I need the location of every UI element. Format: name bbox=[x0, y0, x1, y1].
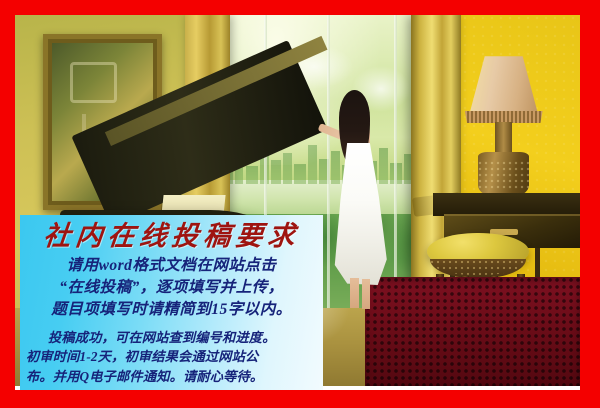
woman-leg bbox=[350, 278, 358, 308]
red-carpet bbox=[365, 277, 580, 386]
lamp-base-pattern bbox=[478, 161, 529, 191]
artwork-shape bbox=[70, 62, 116, 103]
lamp-neck bbox=[495, 122, 512, 156]
caption-title: 社内在线投稿要求 bbox=[20, 221, 323, 252]
caption-line: 请用word格式文档在网站点击 bbox=[20, 255, 323, 277]
caption-paragraph-2: 投稿成功，可在网站查到编号和进度。 初审时间1-2天，初审结果会通过网站公 布。… bbox=[20, 328, 323, 386]
caption-line: “在线投稿”，逐项填写并上传， bbox=[20, 277, 323, 299]
woman-leg bbox=[362, 279, 370, 309]
caption-paragraph-1: 请用word格式文档在网站点击 “在线投稿”，逐项填写并上传， 题目项填写时请精… bbox=[20, 255, 323, 321]
caption-panel: 社内在线投稿要求 请用word格式文档在网站点击 “在线投稿”，逐项填写并上传，… bbox=[20, 215, 323, 390]
caption-line: 题目项填写时请精简到15字以内。 bbox=[20, 299, 323, 321]
poster-frame: 社内在线投稿要求 请用word格式文档在网站点击 “在线投稿”，逐项填写并上传，… bbox=[0, 0, 600, 408]
scene-photo: 社内在线投稿要求 请用word格式文档在网站点击 “在线投稿”，逐项填写并上传，… bbox=[15, 15, 580, 390]
caption-line: 初审时间1-2天，初审结果会通过网站公 bbox=[26, 347, 317, 366]
side-table bbox=[433, 193, 580, 216]
caption-line: 投稿成功，可在网站查到编号和进度。 bbox=[26, 328, 317, 347]
caption-line: 布。并用Q电子邮件通知。请耐心等待。 bbox=[26, 367, 317, 386]
window-mullion bbox=[327, 15, 330, 338]
